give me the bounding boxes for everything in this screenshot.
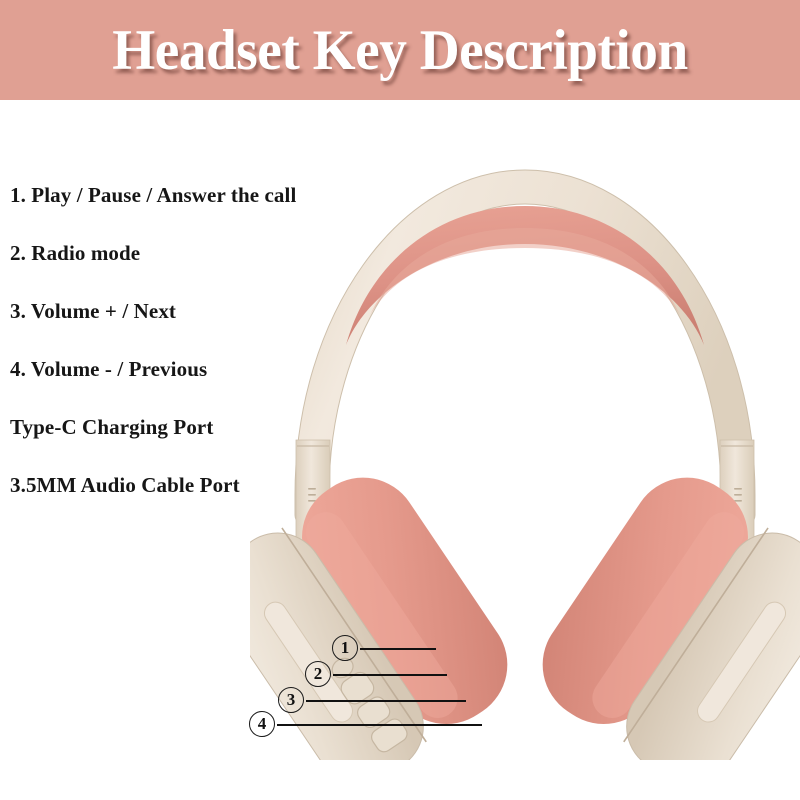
callout-leader-line-3	[306, 700, 466, 702]
callout-number-3[interactable]: 3	[278, 687, 304, 713]
callout-number-1[interactable]: 1	[332, 635, 358, 661]
infographic-page: Headset Key Description 1. Play / Pause …	[0, 0, 800, 800]
callout-leader-line-1	[360, 648, 436, 650]
page-title: Headset Key Description	[12, 0, 788, 100]
callout-leader-line-4	[277, 724, 482, 726]
headphones-illustration	[250, 140, 800, 760]
callout-number-4[interactable]: 4	[249, 711, 275, 737]
ear-cup-left	[250, 456, 529, 760]
callout-number-2[interactable]: 2	[305, 661, 331, 687]
headband-group	[295, 170, 755, 528]
ear-cup-right	[521, 456, 800, 760]
callout-leader-line-2	[333, 674, 447, 676]
